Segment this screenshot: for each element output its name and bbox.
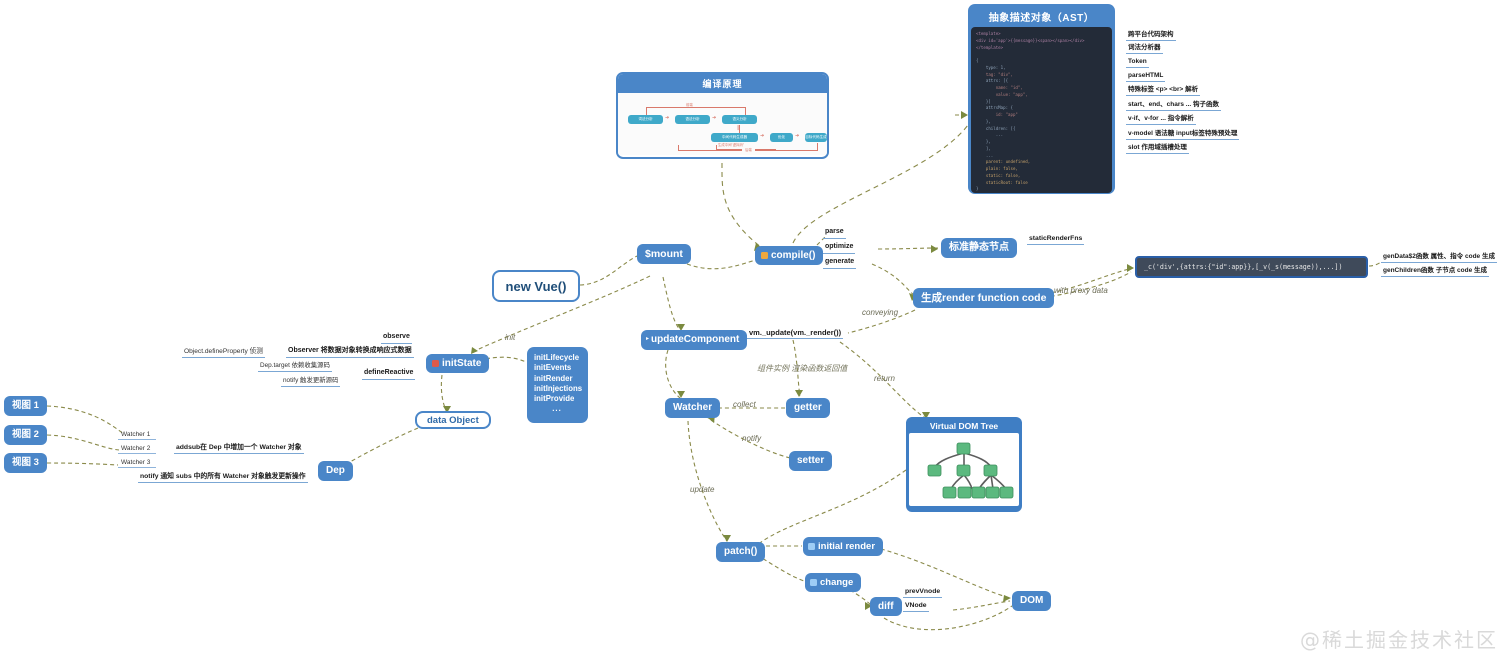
label-observer: Observer 将数据对象转换成响应式数据 [286, 347, 414, 358]
edge-note-component-render: 组件实例 渲染函数返回值 [757, 363, 847, 374]
cp-stage-syntax: 语法分析 [675, 115, 710, 124]
node-compile[interactable]: compile() [755, 246, 823, 265]
cp-stage-ir: 中间代码生成器 [711, 133, 758, 142]
node-dom[interactable]: DOM [1012, 591, 1051, 611]
cp-stage-lex: 词法分析 [628, 115, 663, 124]
node-static-node[interactable]: 标准静态节点 [941, 238, 1017, 258]
watcher-item-1: Watcher 1 [118, 430, 156, 440]
compile-principle-panel: 编译原理 前端 词法分析 ➜ 语法分析 ➜ 语义分析 ❙ 中间代码生成器 ➜ 优… [616, 72, 829, 159]
watcher-item-3: Watcher 3 [118, 458, 156, 468]
light-square-icon-2 [810, 579, 817, 586]
compile-principle-title: 编译原理 [618, 74, 827, 93]
node-diff[interactable]: diff [870, 597, 902, 616]
node-watcher[interactable]: Watcher [665, 398, 720, 418]
edge-note-notify: notify [742, 434, 761, 443]
light-square-icon [808, 543, 815, 550]
edge-note-init: init [505, 333, 515, 342]
ast-label-5: start、end、chars ... 钩子函数 [1126, 101, 1221, 111]
cp-top-label: 前端 [686, 102, 693, 107]
node-data-object[interactable]: data Object [415, 411, 491, 429]
red-square-icon [432, 360, 439, 367]
edge-note-with-proxy-data: with proxy data [1054, 286, 1108, 295]
label-notify-src: notify 触发更新源码 [281, 377, 340, 387]
virtual-dom-tree-panel: Virtual DOM Tree [906, 417, 1022, 512]
ast-label-1: 词法分析器 [1126, 44, 1163, 54]
node-view-2[interactable]: 视图 2 [4, 425, 47, 445]
ast-code-block: <template><div id='app'>{{message}}<span… [971, 27, 1112, 193]
ast-label-7: v-model 语法糖 input标签特殊预处理 [1126, 130, 1239, 140]
node-update-component-label: updateComponent [651, 334, 739, 346]
orange-square-icon [761, 252, 768, 259]
ast-label-2: Token [1126, 58, 1149, 68]
node-initial-render[interactable]: initial render [803, 537, 883, 556]
edge-note-update: update [690, 485, 714, 494]
ast-label-3: parseHTML [1126, 72, 1165, 82]
ast-label-8: slot 作用域插槽处理 [1126, 144, 1189, 154]
virtual-dom-tree-graphic [909, 433, 1019, 506]
label-object-define-property: Object.defineProperty 侦测 [182, 348, 265, 358]
node-update-component[interactable]: ▸ updateComponent [641, 330, 747, 350]
ast-label-6: v-if、v-for ... 指令解析 [1126, 115, 1196, 125]
init-hooks-list: initLifecycle initEvents initRender init… [527, 347, 588, 423]
node-view-3[interactable]: 视图 3 [4, 453, 47, 473]
node-render-code[interactable]: 生成render function code [913, 288, 1054, 308]
cp-bottom-label: 后端 [742, 147, 755, 152]
node-new-vue[interactable]: new Vue() [492, 270, 580, 302]
label-vm-update: vm._update(vm._render()) [747, 328, 843, 339]
init-hook-2: initRender [534, 374, 588, 384]
node-init-state-label: initState [442, 358, 481, 370]
init-hook-more: ... [534, 404, 588, 414]
label-addsub: addsub在 Dep 中增加一个 Watcher 对象 [174, 444, 304, 454]
label-static-render-fns: staticRenderFns [1027, 235, 1084, 245]
label-vnode: VNode [903, 602, 929, 612]
node-getter[interactable]: getter [786, 398, 830, 418]
ast-label-0: 跨平台代码架构 [1126, 31, 1176, 41]
init-hook-4: initProvide [534, 394, 588, 404]
label-prev-vnode: prevVnode [903, 588, 942, 598]
edge-note-conveying: conveying [862, 308, 898, 317]
label-parse: parse [823, 228, 846, 239]
edge-note-collect: collect [733, 400, 756, 409]
node-compile-label: compile() [771, 250, 815, 262]
ast-panel-title: 抽象描述对象（AST） [971, 7, 1112, 27]
edge-note-return: return [874, 374, 895, 383]
node-init-state[interactable]: initState [426, 354, 489, 373]
node-initial-render-label: initial render [818, 541, 875, 552]
node-patch[interactable]: patch() [716, 542, 765, 562]
render-code-snippet: _c('div',{attrs:{"id":app}},[_v(_s(messa… [1135, 256, 1368, 278]
init-hook-1: initEvents [534, 363, 588, 373]
cp-mid-note: 生成中间"虚拟码" [718, 142, 744, 147]
node-setter[interactable]: setter [789, 451, 832, 471]
watcher-item-2: Watcher 2 [118, 444, 156, 454]
label-notify-subs: notify 通知 subs 中的所有 Watcher 对象触发更新操作 [138, 473, 308, 483]
cp-stage-semantic: 语义分析 [722, 115, 757, 124]
node-change[interactable]: change [805, 573, 861, 592]
cp-stage-opt: 优化 [770, 133, 793, 142]
node-change-label: change [820, 577, 853, 588]
label-gen-children: genChildren函数 子节点 code 生成 [1381, 267, 1489, 277]
node-mount[interactable]: $mount [637, 244, 691, 264]
ast-label-4: 特殊标签 <p> <br> 解析 [1126, 86, 1200, 96]
label-define-reactive: defineReactive [362, 369, 415, 380]
label-observe: observe [381, 333, 412, 344]
virtual-dom-tree-title: Virtual DOM Tree [909, 420, 1019, 433]
label-optimize: optimize [823, 243, 855, 254]
cp-stage-target: 目标代码生成 [805, 133, 827, 142]
node-view-1[interactable]: 视图 1 [4, 396, 47, 416]
init-hook-0: initLifecycle [534, 353, 588, 363]
label-dep-target: Dep.target 依赖收集源码 [258, 362, 332, 372]
node-dep[interactable]: Dep [318, 461, 353, 481]
compile-principle-flow: 前端 词法分析 ➜ 语法分析 ➜ 语义分析 ❙ 中间代码生成器 ➜ 优化 ➜ 目… [618, 93, 827, 155]
label-generate: generate [823, 258, 856, 269]
label-gen-data: genData$2函数 属性、指令 code 生成 [1381, 253, 1497, 263]
watermark: @稀土掘金技术社区 [1300, 624, 1498, 653]
init-hook-3: initInjections [534, 384, 588, 394]
ast-panel: 抽象描述对象（AST） <template><div id='app'>{{me… [968, 4, 1115, 194]
